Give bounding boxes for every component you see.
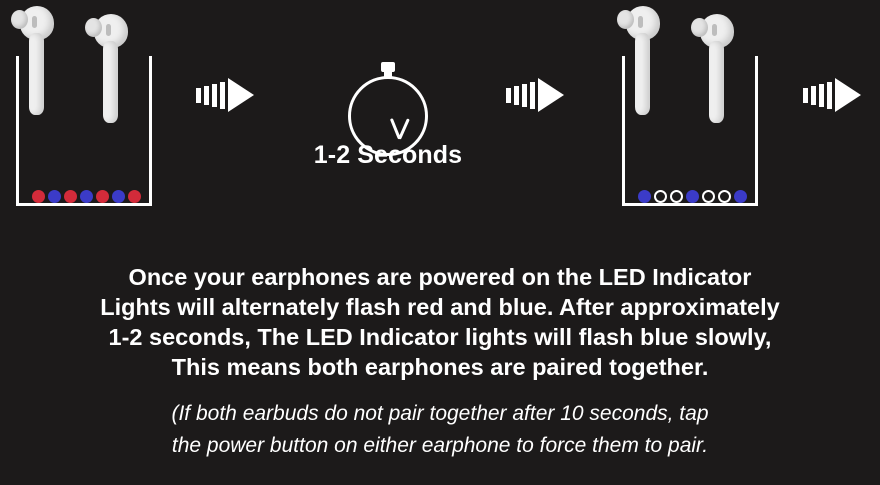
- diagram-band: 1-2 Seconds: [0, 0, 880, 240]
- led-dot: [96, 190, 109, 203]
- arrow-bar: [196, 88, 201, 103]
- earbud-eartip-icon: [617, 10, 634, 29]
- note-line: the power button on either earphone to f…: [0, 430, 880, 462]
- timer-label: 1-2 Seconds: [280, 141, 496, 170]
- arrow-bar: [819, 84, 824, 107]
- arrow-bar: [514, 86, 519, 105]
- stopwatch-hand: [398, 118, 410, 139]
- arrow-bar: [506, 88, 511, 103]
- led-indicator-row-step-1: [32, 190, 141, 203]
- instruction-graphic: 1-2 Seconds: [0, 0, 880, 485]
- arrow-bar: [827, 82, 832, 109]
- arrow-tip: [835, 78, 861, 112]
- earbud-eartip-icon: [85, 18, 102, 37]
- earbud-stem-icon: [103, 41, 118, 123]
- led-dot: [718, 190, 731, 203]
- led-dot: [638, 190, 651, 203]
- note-line: (If both earbuds do not pair together af…: [0, 398, 880, 430]
- instruction-line: 1-2 seconds, The LED Indicator lights wi…: [0, 322, 880, 352]
- arrow-tip: [538, 78, 564, 112]
- earbud-stem-icon: [709, 41, 724, 123]
- note-text: (If both earbuds do not pair together af…: [0, 398, 880, 462]
- led-dot: [112, 190, 125, 203]
- led-dot: [64, 190, 77, 203]
- earbud-stem-icon: [635, 33, 650, 115]
- led-dot: [686, 190, 699, 203]
- earbud-slot-icon: [32, 16, 37, 28]
- led-dot: [734, 190, 747, 203]
- earbud-eartip-icon: [691, 18, 708, 37]
- earbud-eartip-icon: [11, 10, 28, 29]
- instruction-line: Once your earphones are powered on the L…: [0, 262, 880, 292]
- arrow-bar: [530, 82, 535, 109]
- led-indicator-row-step-2: [638, 190, 747, 203]
- earbuds-step-2: [612, 0, 772, 225]
- arrow-bar: [811, 86, 816, 105]
- led-dot: [48, 190, 61, 203]
- led-dot: [80, 190, 93, 203]
- instruction-line: This means both earphones are paired tog…: [0, 352, 880, 382]
- led-dot: [32, 190, 45, 203]
- arrow-bar: [220, 82, 225, 109]
- arrow-tip: [228, 78, 254, 112]
- arrow-bar: [204, 86, 209, 105]
- led-dot: [702, 190, 715, 203]
- led-dot: [670, 190, 683, 203]
- earbud-slot-icon: [106, 24, 111, 36]
- arrow-right-icon-2: [506, 79, 564, 111]
- earbuds-step-1: [6, 0, 166, 225]
- earbud-slot-icon: [712, 24, 717, 36]
- arrow-bar: [522, 84, 527, 107]
- earbud-slot-icon: [638, 16, 643, 28]
- arrow-bar: [212, 84, 217, 107]
- led-dot: [128, 190, 141, 203]
- arrow-bar: [803, 88, 808, 103]
- instruction-line: Lights will alternately flash red and bl…: [0, 292, 880, 322]
- instruction-text: Once your earphones are powered on the L…: [0, 262, 880, 382]
- earbud-stem-icon: [29, 33, 44, 115]
- led-dot: [654, 190, 667, 203]
- arrow-right-icon-3: [803, 79, 861, 111]
- arrow-right-icon-1: [196, 79, 254, 111]
